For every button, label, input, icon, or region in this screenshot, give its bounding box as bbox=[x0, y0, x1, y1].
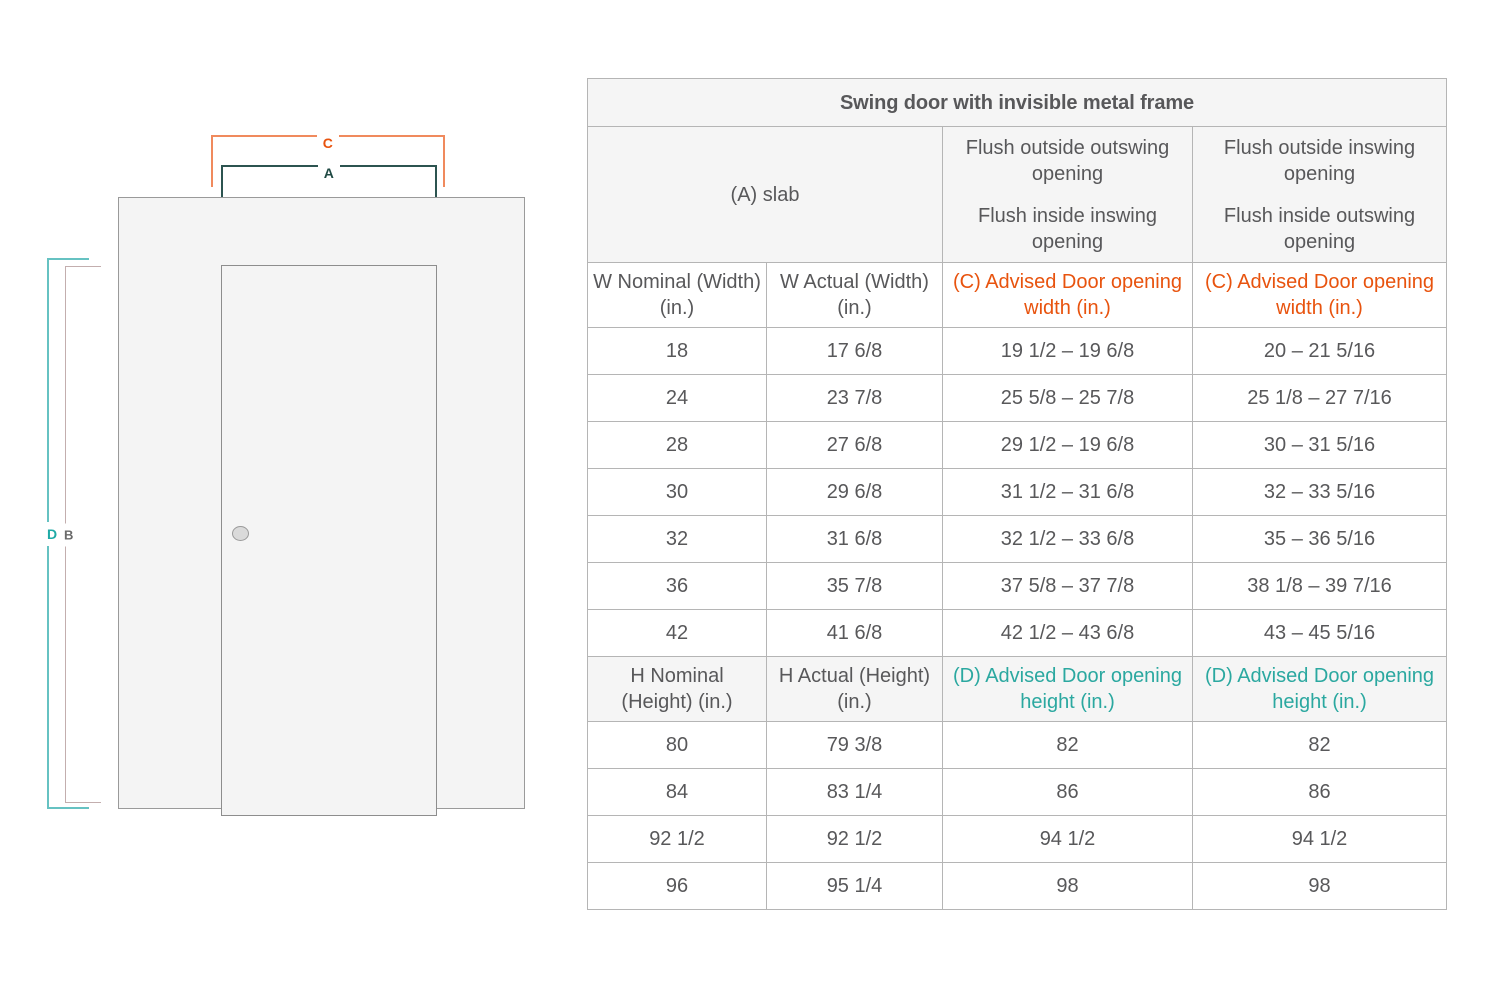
cell-h-nominal: 96 bbox=[588, 863, 767, 910]
group-header-slab: (A) slab bbox=[588, 127, 943, 263]
table-row: 18 17 6/8 19 1/2 – 19 6/8 20 – 21 5/16 bbox=[588, 328, 1447, 375]
cell-h-actual: 92 1/2 bbox=[767, 816, 943, 863]
cell-c-inswing: 35 – 36 5/16 bbox=[1193, 516, 1447, 563]
cell-h-nominal: 92 1/2 bbox=[588, 816, 767, 863]
cell-w-nominal: 36 bbox=[588, 563, 767, 610]
cell-d-outswing: 94 1/2 bbox=[943, 816, 1193, 863]
cell-c-outswing: 32 1/2 – 33 6/8 bbox=[943, 516, 1193, 563]
cell-c-inswing: 30 – 31 5/16 bbox=[1193, 422, 1447, 469]
cell-d-inswing: 94 1/2 bbox=[1193, 816, 1447, 863]
subheader-h-nominal: H Nominal (Height) (in.) bbox=[588, 657, 767, 722]
cell-h-nominal: 80 bbox=[588, 722, 767, 769]
subheader-c-width-inswing: (C) Advised Door opening width (in.) bbox=[1193, 263, 1447, 328]
group-header-spacer bbox=[1197, 187, 1442, 203]
table-title-row: Swing door with invisible metal frame bbox=[588, 79, 1447, 127]
spec-table-container: Swing door with invisible metal frame (A… bbox=[587, 78, 1446, 910]
cell-h-actual: 83 1/4 bbox=[767, 769, 943, 816]
door-slab bbox=[221, 265, 437, 816]
table-title: Swing door with invisible metal frame bbox=[588, 79, 1447, 127]
cell-c-inswing: 38 1/8 – 39 7/16 bbox=[1193, 563, 1447, 610]
cell-h-actual: 79 3/8 bbox=[767, 722, 943, 769]
table-row: 30 29 6/8 31 1/2 – 31 6/8 32 – 33 5/16 bbox=[588, 469, 1447, 516]
cell-d-inswing: 98 bbox=[1193, 863, 1447, 910]
width-subheader-row: W Nominal (Width) (in.) W Actual (Width)… bbox=[588, 263, 1447, 328]
subheader-w-actual: W Actual (Width) (in.) bbox=[767, 263, 943, 328]
cell-d-inswing: 82 bbox=[1193, 722, 1447, 769]
group-header-inswing-line1: Flush outside inswing opening bbox=[1197, 135, 1442, 187]
table-row: 92 1/2 92 1/2 94 1/2 94 1/2 bbox=[588, 816, 1447, 863]
table-row: 84 83 1/4 86 86 bbox=[588, 769, 1447, 816]
cell-w-nominal: 42 bbox=[588, 610, 767, 657]
dimension-label-b: B bbox=[62, 523, 75, 546]
cell-w-nominal: 28 bbox=[588, 422, 767, 469]
dimension-label-d: D bbox=[46, 522, 58, 546]
door-spec-table: Swing door with invisible metal frame (A… bbox=[587, 78, 1447, 910]
cell-c-inswing: 20 – 21 5/16 bbox=[1193, 328, 1447, 375]
group-header-outswing: Flush outside outswing opening Flush ins… bbox=[943, 127, 1193, 263]
subheader-h-actual: H Actual (Height) (in.) bbox=[767, 657, 943, 722]
cell-d-outswing: 82 bbox=[943, 722, 1193, 769]
cell-c-outswing: 29 1/2 – 19 6/8 bbox=[943, 422, 1193, 469]
cell-w-actual: 29 6/8 bbox=[767, 469, 943, 516]
cell-c-outswing: 25 5/8 – 25 7/8 bbox=[943, 375, 1193, 422]
cell-c-outswing: 31 1/2 – 31 6/8 bbox=[943, 469, 1193, 516]
door-diagram: C A D B bbox=[0, 0, 570, 1000]
table-row: 24 23 7/8 25 5/8 – 25 7/8 25 1/8 – 27 7/… bbox=[588, 375, 1447, 422]
cell-w-actual: 27 6/8 bbox=[767, 422, 943, 469]
cell-c-outswing: 19 1/2 – 19 6/8 bbox=[943, 328, 1193, 375]
table-group-header-row: (A) slab Flush outside outswing opening … bbox=[588, 127, 1447, 263]
cell-c-inswing: 32 – 33 5/16 bbox=[1193, 469, 1447, 516]
dimension-bracket-b: B bbox=[65, 266, 101, 803]
table-row: 32 31 6/8 32 1/2 – 33 6/8 35 – 36 5/16 bbox=[588, 516, 1447, 563]
table-row: 80 79 3/8 82 82 bbox=[588, 722, 1447, 769]
cell-h-nominal: 84 bbox=[588, 769, 767, 816]
table-row: 96 95 1/4 98 98 bbox=[588, 863, 1447, 910]
cell-w-actual: 23 7/8 bbox=[767, 375, 943, 422]
cell-c-outswing: 37 5/8 – 37 7/8 bbox=[943, 563, 1193, 610]
group-header-outswing-line1: Flush outside outswing opening bbox=[947, 135, 1188, 187]
subheader-w-nominal: W Nominal (Width) (in.) bbox=[588, 263, 767, 328]
dimension-label-a: A bbox=[318, 165, 340, 181]
cell-c-outswing: 42 1/2 – 43 6/8 bbox=[943, 610, 1193, 657]
table-row: 36 35 7/8 37 5/8 – 37 7/8 38 1/8 – 39 7/… bbox=[588, 563, 1447, 610]
cell-d-outswing: 98 bbox=[943, 863, 1193, 910]
subheader-d-height-inswing: (D) Advised Door opening height (in.) bbox=[1193, 657, 1447, 722]
table-row: 42 41 6/8 42 1/2 – 43 6/8 43 – 45 5/16 bbox=[588, 610, 1447, 657]
cell-d-outswing: 86 bbox=[943, 769, 1193, 816]
cell-w-nominal: 32 bbox=[588, 516, 767, 563]
cell-h-actual: 95 1/4 bbox=[767, 863, 943, 910]
cell-w-nominal: 24 bbox=[588, 375, 767, 422]
dimension-label-c: C bbox=[317, 135, 339, 151]
subheader-d-height-outswing: (D) Advised Door opening height (in.) bbox=[943, 657, 1193, 722]
table-row: 28 27 6/8 29 1/2 – 19 6/8 30 – 31 5/16 bbox=[588, 422, 1447, 469]
group-header-inswing: Flush outside inswing opening Flush insi… bbox=[1193, 127, 1447, 263]
group-header-inswing-line2: Flush inside outswing opening bbox=[1197, 203, 1442, 255]
cell-w-actual: 35 7/8 bbox=[767, 563, 943, 610]
cell-w-actual: 17 6/8 bbox=[767, 328, 943, 375]
subheader-c-width-outswing: (C) Advised Door opening width (in.) bbox=[943, 263, 1193, 328]
door-knob-icon bbox=[232, 526, 249, 541]
cell-w-actual: 41 6/8 bbox=[767, 610, 943, 657]
cell-w-nominal: 30 bbox=[588, 469, 767, 516]
cell-c-inswing: 25 1/8 – 27 7/16 bbox=[1193, 375, 1447, 422]
group-header-spacer bbox=[947, 187, 1188, 203]
cell-w-actual: 31 6/8 bbox=[767, 516, 943, 563]
cell-c-inswing: 43 – 45 5/16 bbox=[1193, 610, 1447, 657]
cell-w-nominal: 18 bbox=[588, 328, 767, 375]
group-header-outswing-line2: Flush inside inswing opening bbox=[947, 203, 1188, 255]
page-root: C A D B Swing door with invisible metal … bbox=[0, 0, 1501, 1000]
cell-d-inswing: 86 bbox=[1193, 769, 1447, 816]
height-subheader-row: H Nominal (Height) (in.) H Actual (Heigh… bbox=[588, 657, 1447, 722]
dimension-bracket-a: A bbox=[221, 165, 437, 201]
